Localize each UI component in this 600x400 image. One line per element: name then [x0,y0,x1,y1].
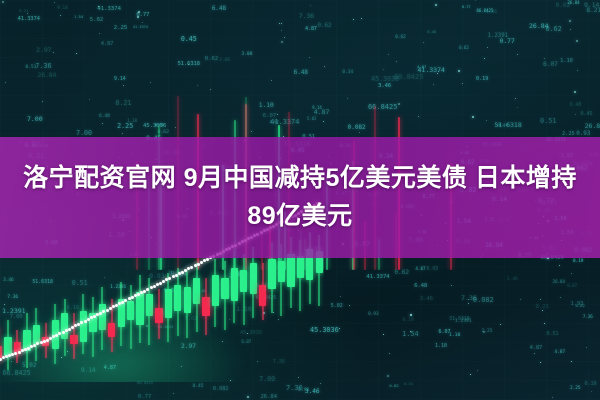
noise-dot [281,41,283,43]
headline-block: 洛宁配资官网 9月中国减持5亿美元美债 日本增持 89亿美元 [0,137,600,258]
noise-dot [349,305,350,306]
noise-dot [575,114,576,115]
noise-dot [576,40,578,42]
noise-dot [574,91,576,93]
noise-dot [150,82,151,83]
noise-dot [500,324,501,325]
noise-dot [423,42,424,43]
noise-dot [197,85,198,86]
noise-dot [383,69,384,70]
noise-dot [544,323,545,324]
noise-dot [60,15,61,16]
trend-dot [102,310,105,313]
noise-dot [383,334,384,335]
noise-dot [517,54,518,55]
noise-dot [5,82,6,83]
noise-dot [438,71,439,72]
trend-dot [62,331,65,334]
noise-dot [388,54,389,55]
noise-dot [247,396,249,398]
noise-dot [339,328,340,329]
noise-dot [468,299,469,300]
noise-dot [477,370,478,371]
noise-dot [353,19,354,20]
noise-dot [173,393,174,394]
trend-dot [168,277,171,280]
noise-dot [433,84,434,85]
noise-dot [309,57,310,58]
noise-dot [552,397,553,398]
noise-dot [271,80,272,81]
noise-dot [281,23,282,24]
noise-dot [487,47,488,48]
noise-dot [451,285,452,286]
noise-dot [483,331,485,333]
noise-dot [571,273,572,274]
headline-line-2: 89亿美元 [247,199,352,235]
noise-dot [542,310,543,311]
noise-dot [122,133,123,134]
noise-dot [102,123,103,124]
noise-dot [570,29,571,30]
noise-dot [560,297,561,298]
noise-dot [458,70,460,72]
noise-dot [320,383,321,384]
noise-dot [544,58,545,59]
noise-dot [396,61,397,62]
noise-dot [470,374,471,375]
noise-dot [89,99,90,100]
noise-dot [410,314,412,316]
trend-dot [146,288,149,291]
noise-dot [123,85,124,86]
noise-dot [324,66,325,67]
noise-dot [540,299,541,300]
noise-dot [387,375,389,377]
noise-dot [577,70,578,71]
noise-dot [137,16,139,18]
noise-dot [472,116,474,118]
trend-dot [109,307,112,310]
noise-dot [591,391,592,392]
noise-dot [486,120,487,121]
noise-dot [142,22,143,23]
trend-dot [58,332,61,335]
banner-image: 0.5166.84256.070.199.142.250.456.070.624… [0,0,600,400]
noise-dot [540,362,541,363]
noise-dot [517,107,518,108]
noise-dot [284,37,285,38]
noise-dot [520,299,521,300]
noise-dot [54,2,55,3]
noise-dot [462,83,463,84]
trend-dot [14,352,17,355]
trend-dot [80,321,83,324]
noise-dot [515,98,516,99]
noise-dot [410,331,411,332]
trend-dot [190,266,193,269]
noise-dot [569,20,571,22]
noise-dot [99,33,100,34]
noise-dot [279,23,280,24]
noise-dot [27,13,28,14]
noise-dot [559,265,560,266]
noise-dot [437,73,438,74]
noise-dot [571,361,572,362]
trend-dot [124,299,127,302]
noise-dot [98,6,99,7]
noise-dot [435,4,437,6]
headline-line-1: 洛宁配资官网 9月中国减持5亿美元美债 日本增持 [0,161,600,197]
noise-dot [53,52,54,53]
noise-dot [534,353,535,354]
noise-dot [468,303,469,304]
noise-dot [361,18,362,19]
noise-dot [138,11,140,13]
noise-dot [389,353,390,354]
noise-dot [586,347,587,348]
trend-dot [84,320,87,323]
noise-dot [281,30,282,31]
trend-dot [36,342,39,345]
noise-dot [42,101,43,102]
noise-dot [188,64,189,65]
noise-dot [475,0,476,1]
noise-dot [2,1,4,3]
trend-dot [87,318,90,321]
noise-dot [310,5,311,6]
noise-dot [340,296,341,297]
noise-dot [76,53,77,54]
noise-dot [484,58,485,59]
